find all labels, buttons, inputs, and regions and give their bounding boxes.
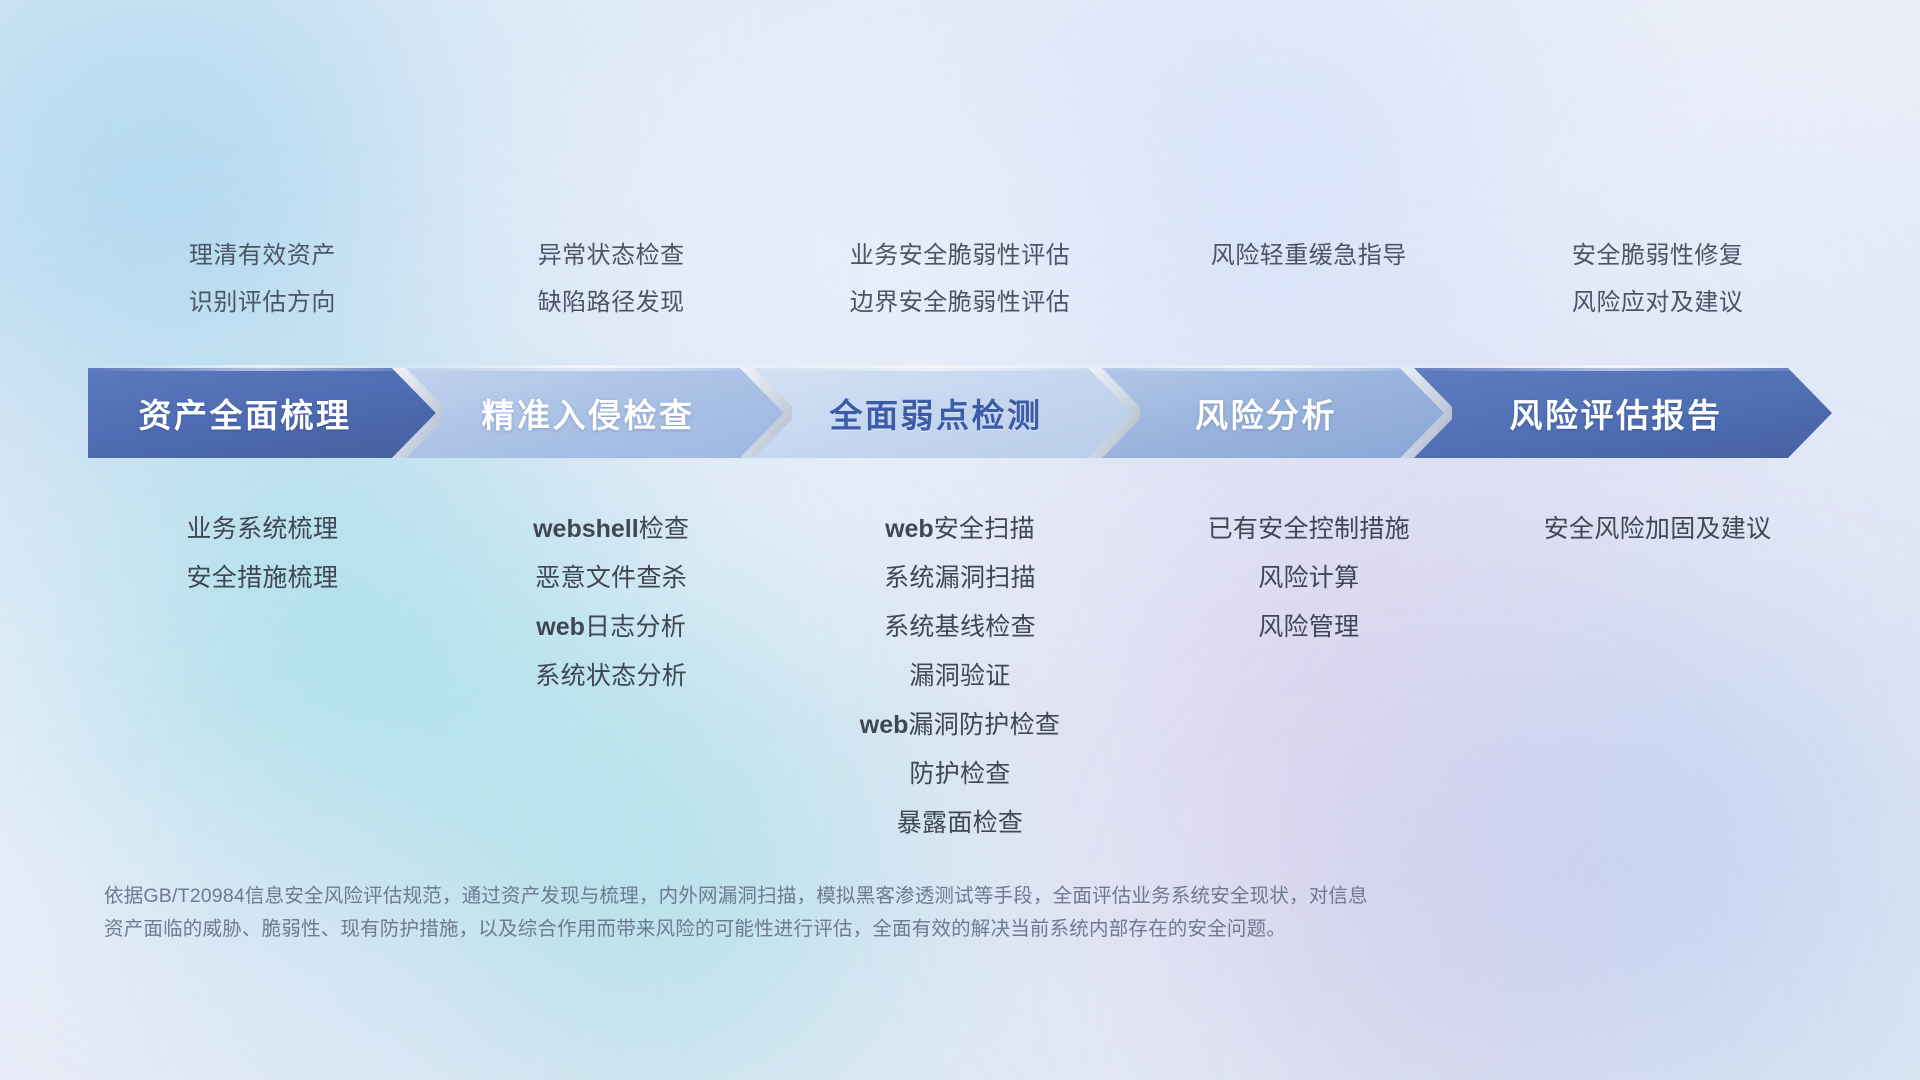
column-2-top-labels: 异常状态检查 缺陷路径发现 (437, 232, 786, 326)
list-item: 风险管理 (1134, 603, 1483, 652)
stage-3-chevron[interactable]: 全面弱点检测 (740, 368, 1132, 458)
column-4-top-labels: 风险轻重缓急指导 (1134, 232, 1483, 279)
top-label: 风险应对及建议 (1483, 279, 1832, 326)
stage-1-top-glow (88, 365, 436, 371)
list-item: 系统状态分析 (437, 652, 786, 701)
stage-2-chevron[interactable]: 精准入侵检查 (392, 368, 784, 458)
list-item: webshell检查 (437, 505, 786, 554)
list-item: 安全措施梳理 (88, 554, 437, 603)
stage-5-top-glow (1400, 365, 1832, 371)
stage-3-label: 全面弱点检测 (740, 389, 1132, 437)
list-item: 已有安全控制措施 (1134, 505, 1483, 554)
top-label: 安全脆弱性修复 (1483, 232, 1832, 279)
column-5-top-labels: 安全脆弱性修复 风险应对及建议 (1483, 232, 1832, 326)
footer-line-2: 资产面临的威胁、脆弱性、现有防护措施，以及综合作用而带来风险的可能性进行评估，全… (104, 913, 1624, 946)
list-item: 安全风险加固及建议 (1483, 505, 1832, 554)
column-1-bottom-list: 业务系统梳理 安全措施梳理 (88, 505, 437, 603)
column-1-top-labels: 理清有效资产 识别评估方向 (88, 232, 437, 326)
stage-3-top-glow (740, 365, 1132, 371)
top-label: 异常状态检查 (437, 232, 786, 279)
stage-4-top-glow (1088, 365, 1444, 371)
stage-5-label: 风险评估报告 (1400, 389, 1832, 437)
stage-5-chevron[interactable]: 风险评估报告 (1400, 368, 1832, 458)
list-item: web安全扫描 (786, 505, 1135, 554)
list-item: web漏洞防护检查 (786, 701, 1135, 750)
list-item: 风险计算 (1134, 554, 1483, 603)
top-label: 边界安全脆弱性评估 (786, 279, 1135, 326)
top-label: 风险轻重缓急指导 (1134, 232, 1483, 279)
top-label: 理清有效资产 (88, 232, 437, 279)
list-item: 恶意文件查杀 (437, 554, 786, 603)
top-label: 识别评估方向 (88, 279, 437, 326)
top-label: 业务安全脆弱性评估 (786, 232, 1135, 279)
stage-2-label: 精准入侵检查 (392, 389, 784, 437)
latin-run: web (885, 515, 934, 543)
footer-line-1: 依据GB/T20984信息安全风险评估规范，通过资产发现与梳理，内外网漏洞扫描，… (104, 880, 1624, 913)
list-item: 系统基线检查 (786, 603, 1135, 652)
process-arrow-band: 资产全面梳理 精准入侵检查 全面弱点检测 风险分析 风险评估报告 (88, 368, 1832, 458)
latin-run: webshell (533, 515, 639, 543)
stage-2-top-glow (392, 365, 784, 371)
stage-4-label: 风险分析 (1088, 389, 1444, 437)
latin-run: web (860, 711, 909, 739)
list-item: 漏洞验证 (786, 652, 1135, 701)
column-3-top-labels: 业务安全脆弱性评估 边界安全脆弱性评估 (786, 232, 1135, 326)
list-item: 暴露面检查 (786, 799, 1135, 848)
column-2-bottom-list: webshell检查 恶意文件查杀 web日志分析 系统状态分析 (437, 505, 786, 701)
list-item: 业务系统梳理 (88, 505, 437, 554)
column-4-bottom-list: 已有安全控制措施 风险计算 风险管理 (1134, 505, 1483, 652)
footer-description: 依据GB/T20984信息安全风险评估规范，通过资产发现与梳理，内外网漏洞扫描，… (104, 880, 1624, 946)
latin-run: web (536, 613, 585, 641)
stage-1-chevron[interactable]: 资产全面梳理 (88, 368, 436, 458)
column-5-bottom-list: 安全风险加固及建议 (1483, 505, 1832, 554)
list-item: 系统漏洞扫描 (786, 554, 1135, 603)
stage-4-chevron[interactable]: 风险分析 (1088, 368, 1444, 458)
stage-1-label: 资产全面梳理 (88, 389, 436, 437)
process-diagram: 理清有效资产 识别评估方向 业务系统梳理 安全措施梳理 异常状态检查 缺陷路径发… (0, 0, 1920, 1080)
top-label: 缺陷路径发现 (437, 279, 786, 326)
column-3-bottom-list: web安全扫描 系统漏洞扫描 系统基线检查 漏洞验证 web漏洞防护检查 防护检… (786, 505, 1135, 848)
list-item: 防护检查 (786, 750, 1135, 799)
list-item: web日志分析 (437, 603, 786, 652)
